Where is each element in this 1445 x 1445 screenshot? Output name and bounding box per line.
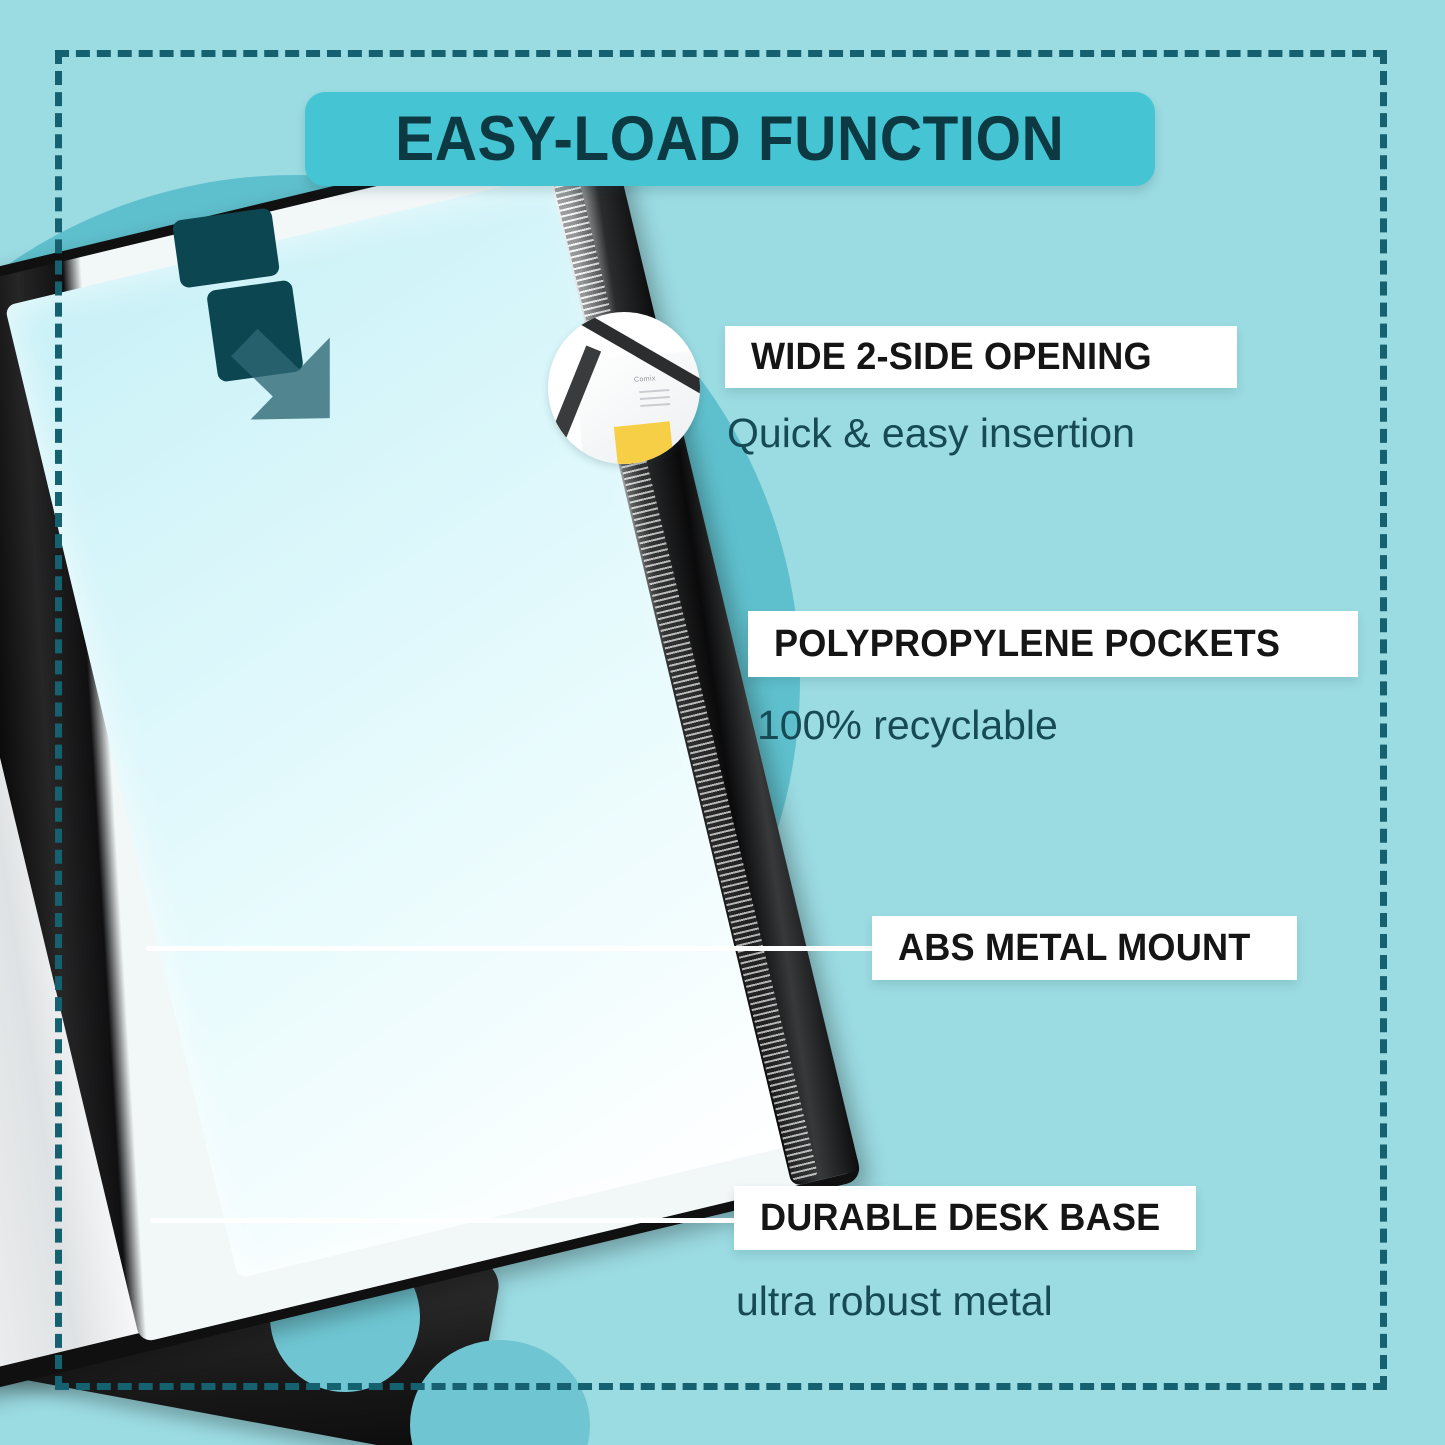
insert-arrow-head-icon (218, 305, 358, 435)
infographic-canvas: EASY-LOAD FUNCTION Comix WIDE 2-SIDE OPE… (0, 0, 1445, 1445)
callout-label-wide-2-side-opening: WIDE 2-SIDE OPENING (725, 326, 1237, 388)
callout-title: POLYPROPYLENE POCKETS (774, 623, 1280, 666)
inset-photo-yellow-accent (614, 421, 674, 464)
callout-subtitle-polypropylene-pockets: 100% recyclable (757, 702, 1058, 749)
product-image (0, 190, 840, 1420)
callout-label-abs-metal-mount: ABS METAL MOUNT (872, 916, 1297, 980)
callout-title: WIDE 2-SIDE OPENING (751, 336, 1152, 379)
callout-subtitle-wide-2-side-opening: Quick & easy insertion (727, 410, 1135, 457)
leader-line-abs-metal-mount (146, 946, 876, 951)
callout-label-durable-desk-base: DURABLE DESK BASE (734, 1186, 1196, 1250)
inset-photo-wide-2-side-opening: Comix (548, 312, 700, 464)
insert-arrow-segment-top (172, 207, 280, 288)
callout-subtitle-durable-desk-base: ultra robust metal (736, 1278, 1053, 1325)
page-title: EASY-LOAD FUNCTION (395, 103, 1064, 175)
title-banner: EASY-LOAD FUNCTION (305, 92, 1155, 186)
callout-title: ABS METAL MOUNT (898, 927, 1250, 970)
inset-photo-text-lines (639, 389, 670, 412)
callout-title: DURABLE DESK BASE (760, 1197, 1160, 1240)
leader-line-durable-desk-base (150, 1218, 740, 1223)
callout-label-polypropylene-pockets: POLYPROPYLENE POCKETS (748, 611, 1358, 677)
